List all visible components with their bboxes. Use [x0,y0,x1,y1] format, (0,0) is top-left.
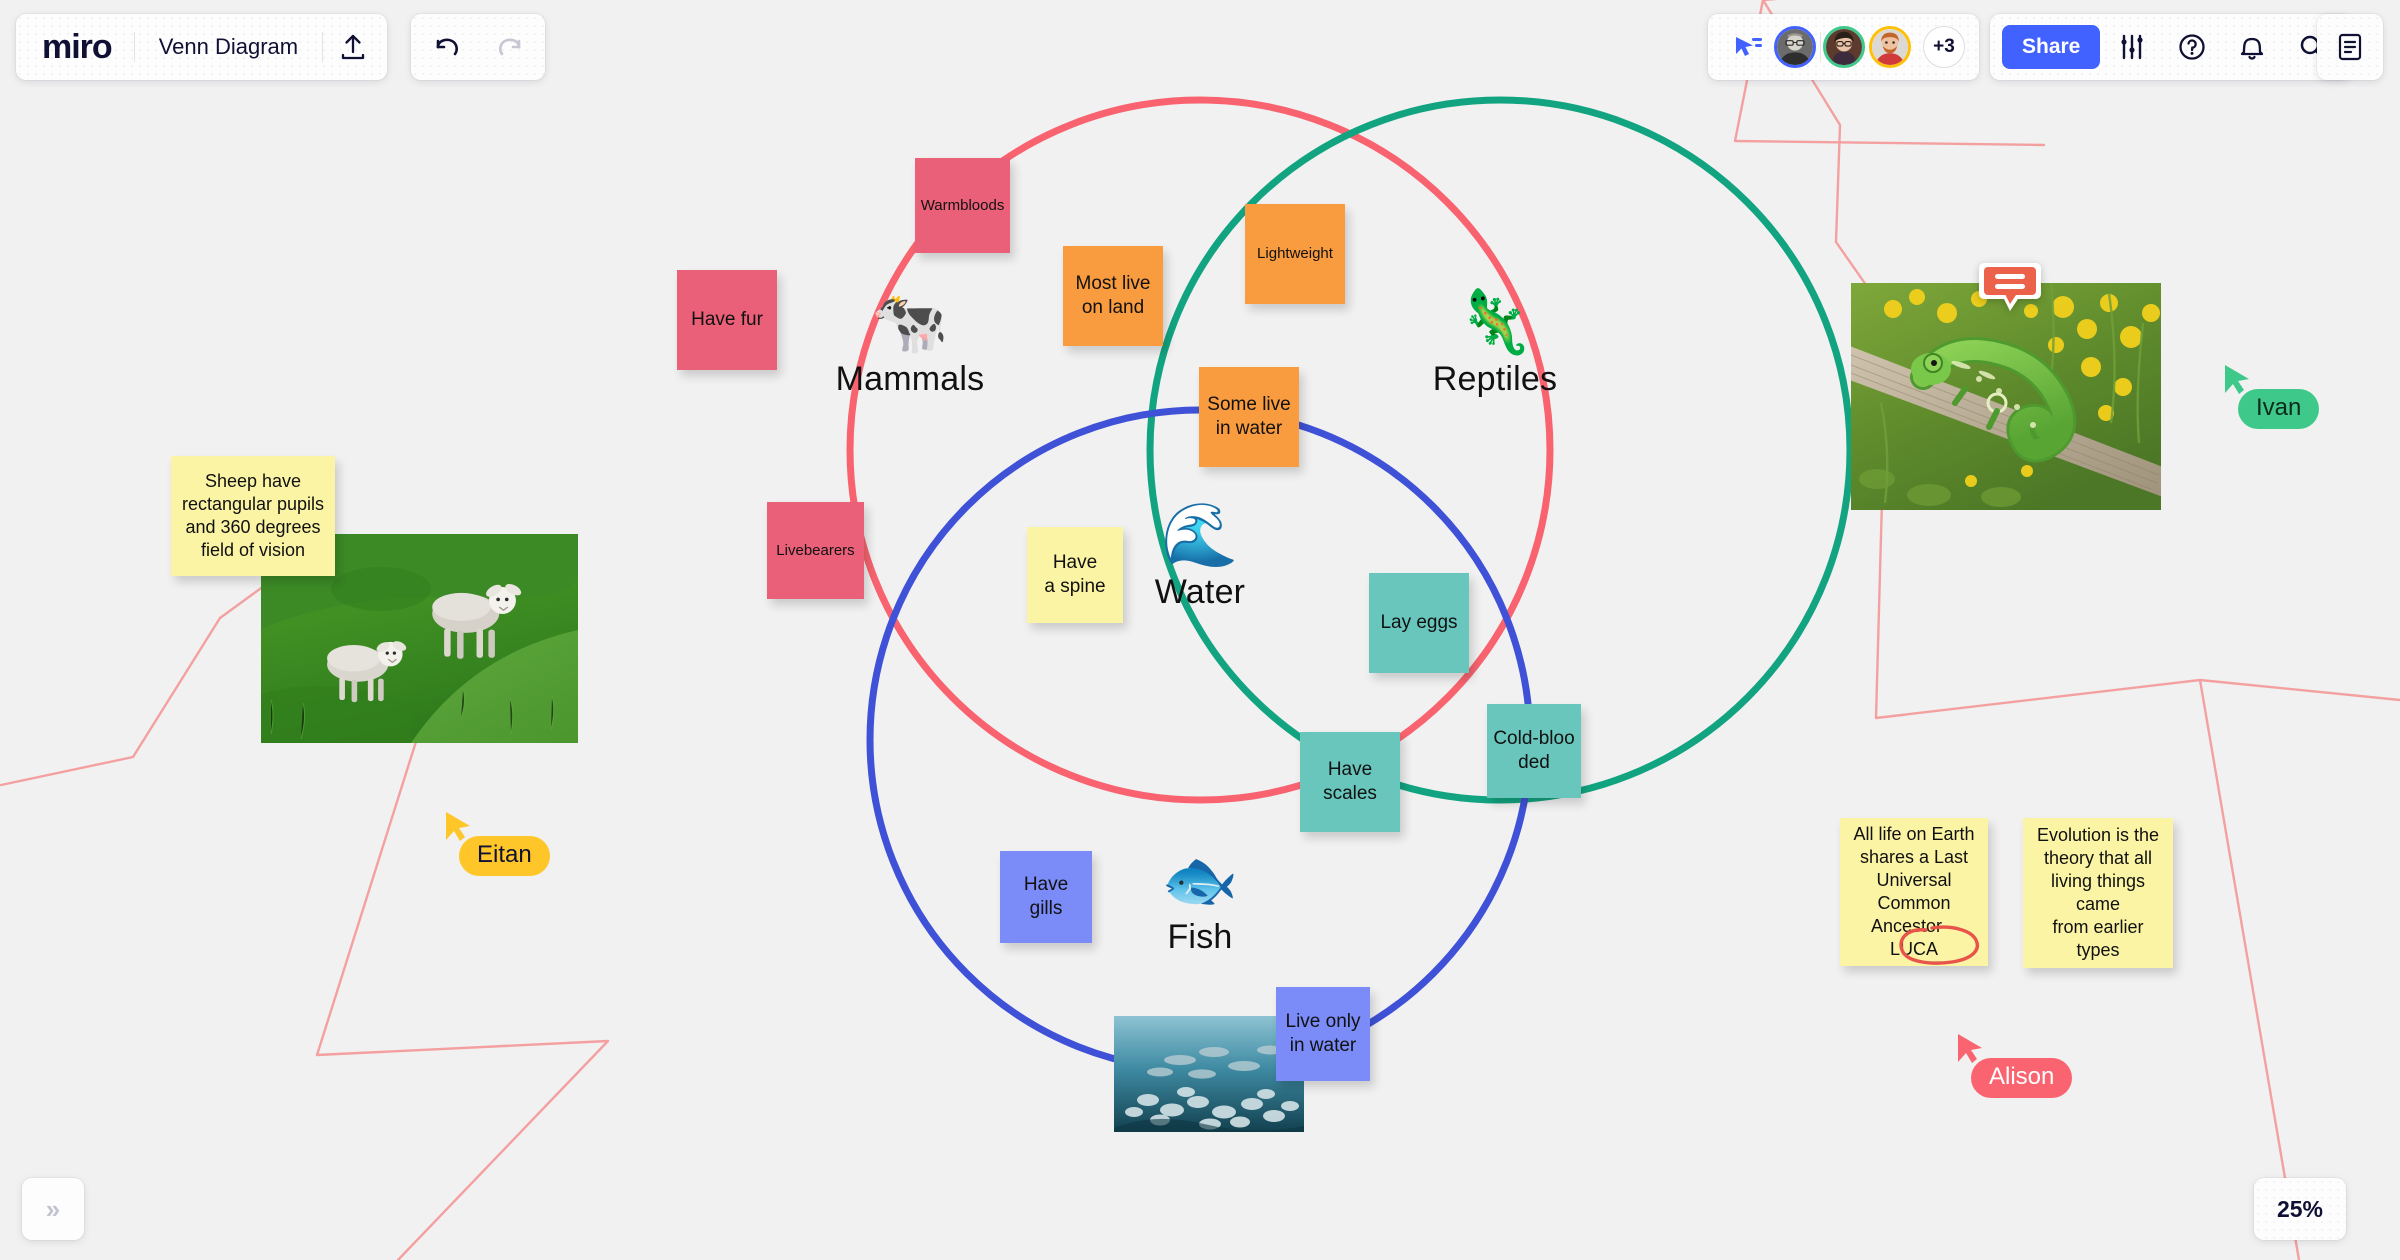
sticky-note-have-fur[interactable]: Have fur [677,270,777,370]
sticky-note-luca-fact[interactable]: All life on Earth shares a Last Universa… [1840,818,1988,966]
sticky-note-sheep-fact[interactable]: Sheep have rectangular pupils and 360 de… [171,456,335,576]
presenter-cursor-icon[interactable] [1722,21,1774,73]
scribble-path-bottom-left [317,672,608,1260]
sticky-note-evolution-fact[interactable]: Evolution is the theory that all living … [2023,818,2173,968]
sticky-note-lay-eggs[interactable]: Lay eggs [1369,573,1469,673]
sticky-note-lightweight[interactable]: Lightweight [1245,204,1345,304]
share-button[interactable]: Share [2002,25,2100,69]
redo-icon[interactable] [481,19,537,75]
miro-logo[interactable]: miro [20,28,134,67]
zoom-level-indicator[interactable]: 25% [2254,1178,2346,1240]
undo-icon[interactable] [419,19,475,75]
cursor-label-ivan: Ivan [2238,389,2319,429]
sticky-note-have-gills[interactable]: Have gills [1000,851,1092,943]
top-left-toolbar[interactable]: miro Venn Diagram [16,14,387,80]
lizard-icon: 🦎 [1365,292,1625,354]
sticky-note-most-live-on-land[interactable]: Most live on land [1063,246,1163,346]
expand-panel-button[interactable]: » [22,1178,84,1240]
miro-board-canvas[interactable]: 🐄 Mammals 🦎 Reptiles 🌊 Water 🐟 Fish [0,0,2400,1260]
avatar-divider [1820,32,1821,62]
venn-label-mammals: 🐄 Mammals [780,292,1040,399]
scribble-path-far-right [2200,680,2400,700]
undo-redo-toolbar[interactable] [411,14,545,80]
chameleon-photo-graphic [1851,283,2161,510]
fish-icon: 🐟 [1070,850,1330,912]
notes-panel-toolbar[interactable] [2317,14,2383,80]
board-canvas-layer[interactable]: 🐄 Mammals 🦎 Reptiles 🌊 Water 🐟 Fish [0,0,2400,1260]
sticky-note-livebearers[interactable]: Livebearers [767,502,864,599]
cursor-label-alison: Alison [1971,1058,2072,1098]
venn-label-fish-text: Fish [1070,918,1330,957]
cow-icon: 🐄 [780,292,1040,354]
question-circle-icon[interactable] [2164,19,2220,75]
expand-chevrons-icon: » [46,1194,60,1225]
bell-icon[interactable] [2224,19,2280,75]
venn-label-reptiles: 🦎 Reptiles [1365,292,1625,399]
cursor-label-eitan: Eitan [459,836,550,876]
avatar-collaborator-3[interactable] [1869,26,1911,68]
avatar-collaborator-1[interactable] [1774,26,1816,68]
sticky-note-have-scales[interactable]: Have scales [1300,732,1400,832]
sticky-note-some-live-in-water[interactable]: Some live in water [1199,367,1299,467]
board-title[interactable]: Venn Diagram [135,34,322,60]
venn-label-fish: 🐟 Fish [1070,850,1330,957]
zoom-level-value: 25% [2277,1196,2323,1223]
sliders-icon[interactable] [2104,19,2160,75]
sticky-note-live-only-in-water[interactable]: Live only in water [1276,987,1370,1081]
sticky-note-have-a-spine[interactable]: Have a spine [1027,527,1123,623]
avatar-1-photo [1777,29,1813,65]
venn-label-reptiles-text: Reptiles [1365,360,1625,399]
avatar-collaborator-2[interactable] [1823,26,1865,68]
upload-icon[interactable] [323,17,383,77]
avatar-2-photo [1826,29,1862,65]
comment-pin-icon[interactable] [1978,261,2042,313]
sticky-note-cold-blooded[interactable]: Cold-bloo ded [1487,704,1581,798]
avatar-overflow-count[interactable]: +3 [1923,26,1965,68]
image-chameleon[interactable] [1851,283,2161,510]
venn-label-mammals-text: Mammals [780,360,1040,399]
actions-toolbar[interactable]: Share [1990,14,2352,80]
sticky-note-warmbloods[interactable]: Warmbloods [915,158,1010,253]
document-panel-icon[interactable] [2322,19,2378,75]
avatar-3-photo [1872,29,1908,65]
collaborators-toolbar[interactable]: +3 [1708,14,1979,80]
